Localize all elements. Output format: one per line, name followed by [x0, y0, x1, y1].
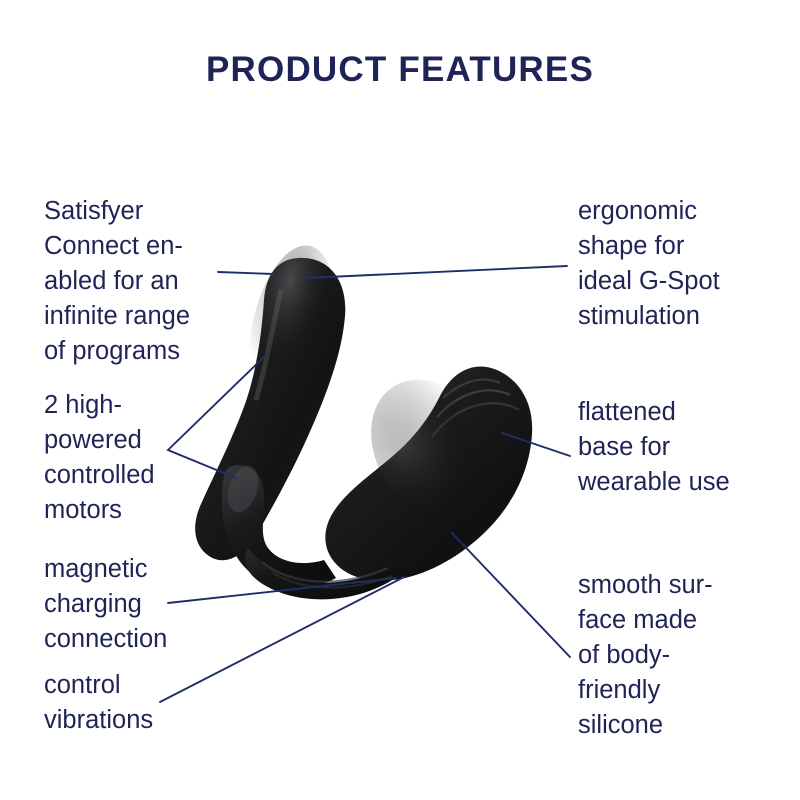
product-ridge-2: [437, 390, 510, 417]
feature-label-ergonomic-shape: ergonomic shape for ideal G-Spot stimula…: [578, 194, 798, 334]
leader-line-flattened: [502, 433, 570, 456]
product-right-arm: [325, 366, 532, 580]
product-right-highlight: [344, 355, 527, 549]
product-upper-sheen: [256, 290, 281, 400]
leader-line-smooth: [452, 533, 570, 657]
page-title: PRODUCT FEATURES: [0, 50, 800, 90]
product-ridge-1: [443, 379, 500, 398]
feature-label-smooth-surface: smooth sur- face made of body- friendly …: [578, 568, 788, 743]
product-base: [245, 540, 434, 599]
feature-label-satisfyer-connect: Satisfyer Connect en- abled for an infin…: [44, 194, 254, 369]
feature-label-magnetic-charging: magnetic charging connection: [44, 552, 244, 657]
feature-label-flattened-base: flattened base for wearable use: [578, 395, 793, 500]
product-base-ridge-1: [262, 562, 388, 582]
product-ridge-3: [432, 403, 519, 437]
product-features-infographic: PRODUCT FEATURES: [0, 0, 800, 800]
feature-label-control-vibrations: control vibrations: [44, 668, 234, 738]
feature-label-motors: 2 high- powered controlled motors: [44, 388, 234, 528]
product-base-ridge-2: [272, 572, 392, 588]
leader-line-ergonomic: [306, 266, 567, 278]
